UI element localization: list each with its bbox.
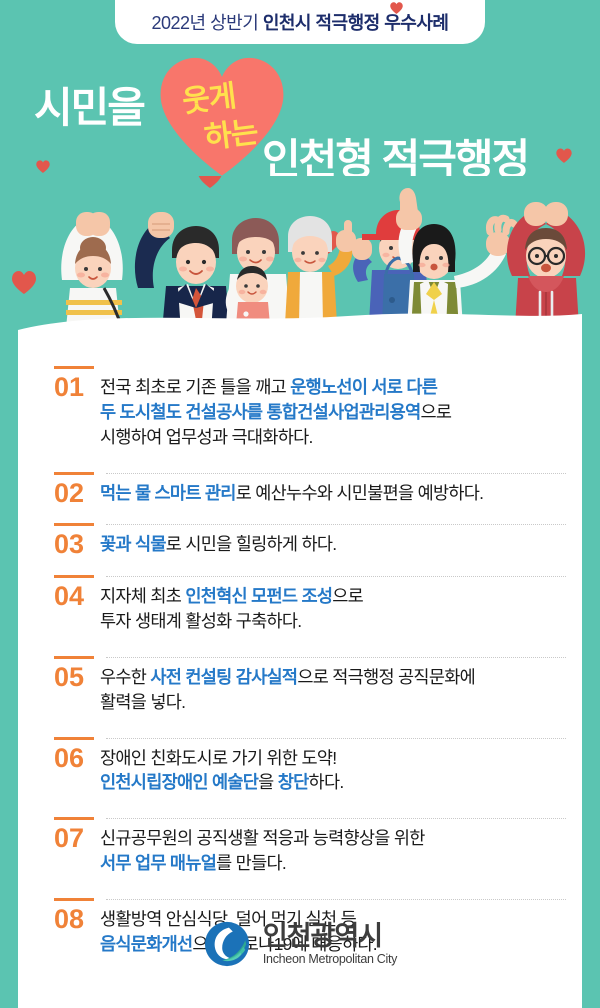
separator-dotted-rule	[106, 818, 566, 819]
item-gap	[18, 715, 582, 733]
logo-name-ko: 인천광역시	[263, 922, 397, 950]
item-number: 06	[34, 743, 100, 775]
title-line-1: 시민을	[34, 74, 144, 135]
separator-orange-rule	[54, 472, 94, 475]
logo-name-en: Incheon Metropolitan City	[263, 952, 397, 966]
plain-phrase: 로 예산누수와 시민불편을 예방하다.	[236, 483, 484, 503]
item-text-line: 두 도시철도 건설공사를 통합건설사업관리용역으로	[100, 400, 560, 425]
highlighted-phrase: 서무 업무 매뉴얼	[100, 853, 216, 873]
list-item[interactable]: 06장애인 친화도시로 가기 위한 도약!인천시립장애인 예술단을 창단하다.	[18, 743, 582, 796]
list-item[interactable]: 01전국 최초로 기존 틀을 깨고 운행노선이 서로 다른두 도시철도 건설공사…	[18, 372, 582, 450]
separator-orange-rule	[54, 523, 94, 526]
plain-phrase: 지자체 최초	[100, 586, 185, 606]
title-area: 시민을 웃게 하는 인천형 적극행정	[0, 48, 600, 188]
item-number: 02	[34, 478, 100, 510]
item-text-line: 우수한 사전 컨설팅 감사실적으로 적극행정 공직문화에	[100, 665, 560, 690]
plain-phrase: 으로 적극행정 공직문화에	[297, 667, 475, 687]
item-text-line: 투자 생태계 활성화 구축하다.	[100, 609, 560, 634]
cases-list: 01전국 최초로 기존 틀을 깨고 운행노선이 서로 다른두 도시철도 건설공사…	[18, 362, 582, 975]
plain-phrase: 으로	[332, 586, 363, 606]
poster-root: 2022년 상반기 인천시 적극행정 우수사례 시민을 웃게 하는 인천형 적극…	[0, 0, 600, 1008]
plain-phrase: 시행하여 업무성과 극대화하다.	[100, 427, 313, 447]
list-item[interactable]: 02먹는 물 스마트 관리로 예산누수와 시민불편을 예방하다.	[18, 478, 582, 510]
mini-heart-icon-left	[36, 160, 50, 173]
item-separator	[34, 519, 566, 529]
item-separator	[34, 652, 566, 662]
item-text-line: 장애인 친화도시로 가기 위한 도약!	[100, 746, 560, 771]
item-text: 신규공무원의 공직생활 적응과 능력향상을 위한서무 업무 매뉴얼를 만들다.	[100, 823, 566, 876]
item-text-line: 서무 업무 매뉴얼를 만들다.	[100, 851, 560, 876]
item-separator	[34, 813, 566, 823]
list-item[interactable]: 05우수한 사전 컨설팅 감사실적으로 적극행정 공직문화에활력을 넣다.	[18, 662, 582, 715]
header-title-bold: 인천시 적극행정 우수사례	[263, 13, 449, 33]
header-title: 2022년 상반기 인천시 적극행정 우수사례	[152, 9, 449, 35]
separator-orange-rule	[54, 575, 94, 578]
item-separator	[34, 571, 566, 581]
separator-dotted-rule	[106, 524, 566, 525]
highlighted-phrase: 창단	[278, 772, 309, 792]
highlighted-phrase: 운행노선이 서로 다른	[290, 377, 437, 397]
separator-orange-rule	[54, 656, 94, 659]
item-separator	[34, 894, 566, 904]
item-text: 우수한 사전 컨설팅 감사실적으로 적극행정 공직문화에활력을 넣다.	[100, 662, 566, 715]
plain-phrase: 장애인 친화도시로 가기 위한 도약!	[100, 748, 336, 768]
logo-text-block: 인천광역시 Incheon Metropolitan City	[263, 922, 397, 966]
plain-phrase: 하다.	[309, 772, 344, 792]
item-number: 03	[34, 529, 100, 561]
plain-phrase: 신규공무원의 공직생활 적응과 능력향상을 위한	[100, 828, 425, 848]
separator-orange-rule	[54, 817, 94, 820]
plain-phrase: 를 만들다.	[216, 853, 286, 873]
separator-orange-rule	[54, 366, 94, 369]
header-banner: 2022년 상반기 인천시 적극행정 우수사례	[115, 0, 485, 44]
highlighted-phrase: 먹는 물 스마트 관리	[100, 483, 236, 503]
highlighted-phrase: 사전 컨설팅 감사실적	[150, 667, 297, 687]
plain-phrase: 우수한	[100, 667, 150, 687]
item-number: 04	[34, 581, 100, 613]
item-text-line: 지자체 최초 인천혁신 모펀드 조성으로	[100, 584, 560, 609]
item-number: 01	[34, 372, 100, 404]
item-separator	[34, 362, 566, 372]
separator-dotted-rule	[106, 899, 566, 900]
separator-dotted-rule	[106, 657, 566, 658]
list-item[interactable]: 04지자체 최초 인천혁신 모펀드 조성으로투자 생태계 활성화 구축하다.	[18, 581, 582, 634]
item-gap	[18, 876, 582, 894]
separator-dotted-rule	[106, 473, 566, 474]
item-text-line: 먹는 물 스마트 관리로 예산누수와 시민불편을 예방하다.	[100, 481, 560, 506]
incheon-swirl-logo-icon	[203, 920, 251, 968]
mini-heart-icon-right	[556, 148, 572, 163]
item-gap	[18, 509, 582, 519]
mini-heart-icon-top	[390, 2, 403, 14]
item-gap	[18, 450, 582, 468]
highlighted-phrase: 인천혁신 모펀드 조성	[185, 586, 332, 606]
item-text: 먹는 물 스마트 관리로 예산누수와 시민불편을 예방하다.	[100, 478, 566, 506]
item-text: 꽃과 식물로 시민을 힐링하게 하다.	[100, 529, 566, 557]
plain-phrase: 투자 생태계 활성화 구축하다.	[100, 611, 301, 631]
item-text: 장애인 친화도시로 가기 위한 도약!인천시립장애인 예술단을 창단하다.	[100, 743, 566, 796]
separator-orange-rule	[54, 737, 94, 740]
item-text-line: 신규공무원의 공직생활 적응과 능력향상을 위한	[100, 826, 560, 851]
item-text-line: 활력을 넣다.	[100, 690, 560, 715]
item-separator	[34, 733, 566, 743]
plain-phrase: 전국 최초로 기존 틀을 깨고	[100, 377, 290, 397]
plain-phrase: 으로	[421, 402, 452, 422]
item-text-line: 꽃과 식물로 시민을 힐링하게 하다.	[100, 532, 560, 557]
plain-phrase: 을	[258, 772, 278, 792]
item-number: 07	[34, 823, 100, 855]
highlighted-phrase: 인천시립장애인 예술단	[100, 772, 258, 792]
footer-logo: 인천광역시 Incheon Metropolitan City	[18, 920, 582, 968]
item-text-line: 인천시립장애인 예술단을 창단하다.	[100, 770, 560, 795]
plain-phrase: 로 시민을 힐링하게 하다.	[166, 534, 337, 554]
plain-phrase: 활력을 넣다.	[100, 692, 185, 712]
highlighted-phrase: 꽃과 식물	[100, 534, 166, 554]
list-item[interactable]: 07신규공무원의 공직생활 적응과 능력향상을 위한서무 업무 매뉴얼를 만들다…	[18, 823, 582, 876]
item-text-line: 시행하여 업무성과 극대화하다.	[100, 425, 560, 450]
item-text: 전국 최초로 기존 틀을 깨고 운행노선이 서로 다른두 도시철도 건설공사를 …	[100, 372, 566, 450]
highlighted-phrase: 두 도시철도 건설공사를 통합건설사업관리용역	[100, 402, 421, 422]
title-heart-word-2: 하는	[202, 107, 260, 157]
item-number: 05	[34, 662, 100, 694]
separator-orange-rule	[54, 898, 94, 901]
separator-dotted-rule	[106, 576, 566, 577]
item-separator	[34, 468, 566, 478]
item-text-line: 전국 최초로 기존 틀을 깨고 운행노선이 서로 다른	[100, 375, 560, 400]
content-card: 01전국 최초로 기존 틀을 깨고 운행노선이 서로 다른두 도시철도 건설공사…	[18, 340, 582, 1008]
item-text: 지자체 최초 인천혁신 모펀드 조성으로투자 생태계 활성화 구축하다.	[100, 581, 566, 634]
list-item[interactable]: 03꽃과 식물로 시민을 힐링하게 하다.	[18, 529, 582, 561]
item-gap	[18, 634, 582, 652]
item-gap	[18, 561, 582, 571]
header-title-prefix: 2022년 상반기	[152, 13, 263, 33]
separator-dotted-rule	[106, 738, 566, 739]
item-gap	[18, 795, 582, 813]
card-wave-top-edge	[18, 306, 582, 352]
